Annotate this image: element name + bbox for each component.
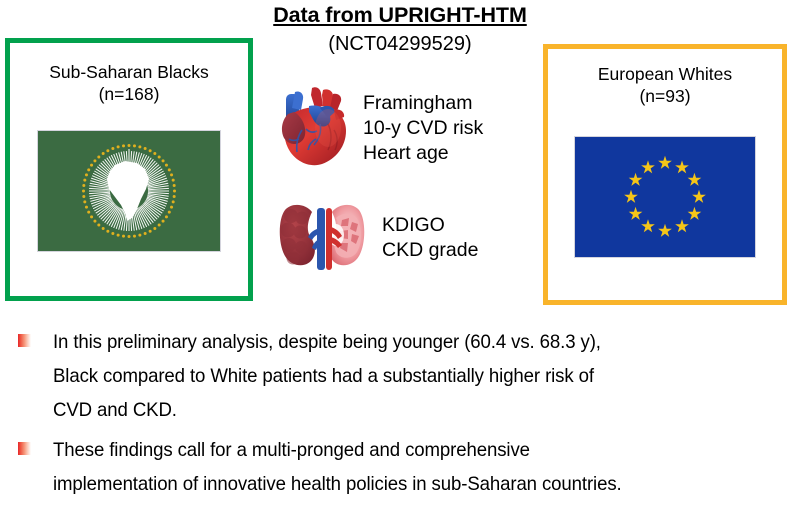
measure-line: CKD grade — [382, 238, 478, 263]
measure-label-cvd: Framingham 10-y CVD risk Heart age — [363, 91, 483, 166]
bullet-text: In this preliminary analysis, despite be… — [53, 325, 766, 427]
bullet-text: These findings call for a multi-pronged … — [53, 433, 766, 501]
heart-icon — [276, 84, 354, 173]
conclusion-bullet-list: In this preliminary analysis, despite be… — [0, 325, 800, 507]
list-item: In this preliminary analysis, despite be… — [0, 325, 800, 427]
measure-row-cvd: Framingham 10-y CVD risk Heart age — [276, 84, 483, 173]
list-item: These findings call for a multi-pronged … — [0, 433, 800, 501]
gradient-square-bullet-icon — [18, 442, 31, 455]
european-union-flag-wrapper — [548, 137, 782, 257]
bullet-line: These findings call for a multi-pronged … — [53, 433, 766, 467]
cohort-sample-size-label: (n=93) — [548, 85, 782, 107]
african-union-flag-wrapper — [10, 131, 248, 251]
measure-line: Heart age — [363, 141, 483, 166]
cohort-panel-sub-saharan-blacks: Sub-Saharan Blacks (n=168) — [5, 38, 253, 301]
measure-line: KDIGO — [382, 213, 478, 238]
page-title: Data from UPRIGHT-HTM — [0, 0, 800, 28]
measure-label-ckd: KDIGO CKD grade — [382, 213, 478, 263]
cohort-panel-european-whites: European Whites (n=93) — [543, 44, 787, 305]
african-union-flag — [38, 131, 220, 251]
bullet-line: CVD and CKD. — [53, 393, 766, 427]
gradient-square-bullet-icon — [18, 334, 31, 347]
bullet-line: In this preliminary analysis, despite be… — [53, 325, 766, 359]
measure-line: 10-y CVD risk — [363, 116, 483, 141]
kidneys-icon — [276, 198, 368, 277]
cohort-name-label: European Whites — [548, 49, 782, 85]
cohort-name-label: Sub-Saharan Blacks — [10, 43, 248, 83]
measure-row-ckd: KDIGO CKD grade — [276, 198, 478, 277]
measure-line: Framingham — [363, 91, 483, 116]
bullet-line: Black compared to White patients had a s… — [53, 359, 766, 393]
cohort-sample-size-label: (n=168) — [10, 83, 248, 105]
european-union-flag — [575, 137, 755, 257]
